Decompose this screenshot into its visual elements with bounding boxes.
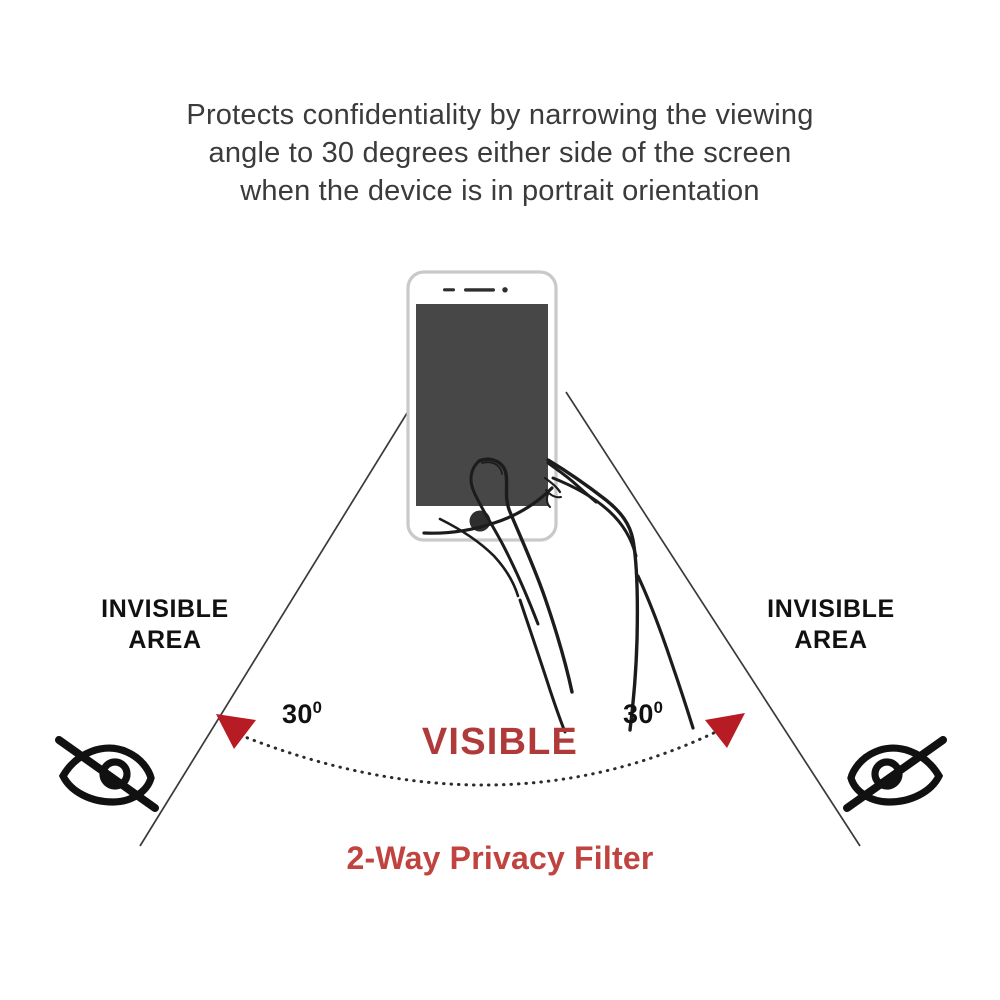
eye-slash-right-icon: [847, 740, 943, 808]
invisible-area-left-line-2: AREA: [62, 625, 268, 656]
diagram-caption: 2-Way Privacy Filter: [250, 840, 750, 877]
red-arrowhead-left-icon: [216, 714, 256, 749]
angle-label-left: 300: [282, 699, 322, 730]
invisible-area-label-right: INVISIBLE AREA: [728, 594, 934, 656]
proximity-sensor-icon: [443, 288, 455, 291]
eye-slash-left-icon: [59, 740, 155, 808]
invisible-area-left-line-1: INVISIBLE: [101, 595, 229, 623]
angle-left-value: 30: [282, 699, 313, 729]
angle-left-unit: 0: [313, 698, 323, 717]
front-camera-icon: [502, 287, 507, 292]
invisible-area-right-line-1: INVISIBLE: [767, 595, 895, 623]
wrist-left-outline: [520, 600, 565, 732]
earpiece-speaker-icon: [464, 288, 495, 291]
invisible-area-label-left: INVISIBLE AREA: [62, 594, 268, 656]
red-arrowhead-right-icon: [705, 713, 745, 748]
phone-screen: [416, 304, 548, 506]
privacy-filter-diagram: Protects confidentiality by narrowing th…: [0, 0, 1000, 1000]
invisible-area-right-line-2: AREA: [728, 625, 934, 656]
visible-area-label: VISIBLE: [350, 721, 650, 764]
angle-right-unit: 0: [654, 698, 664, 717]
smartphone: [408, 272, 556, 540]
